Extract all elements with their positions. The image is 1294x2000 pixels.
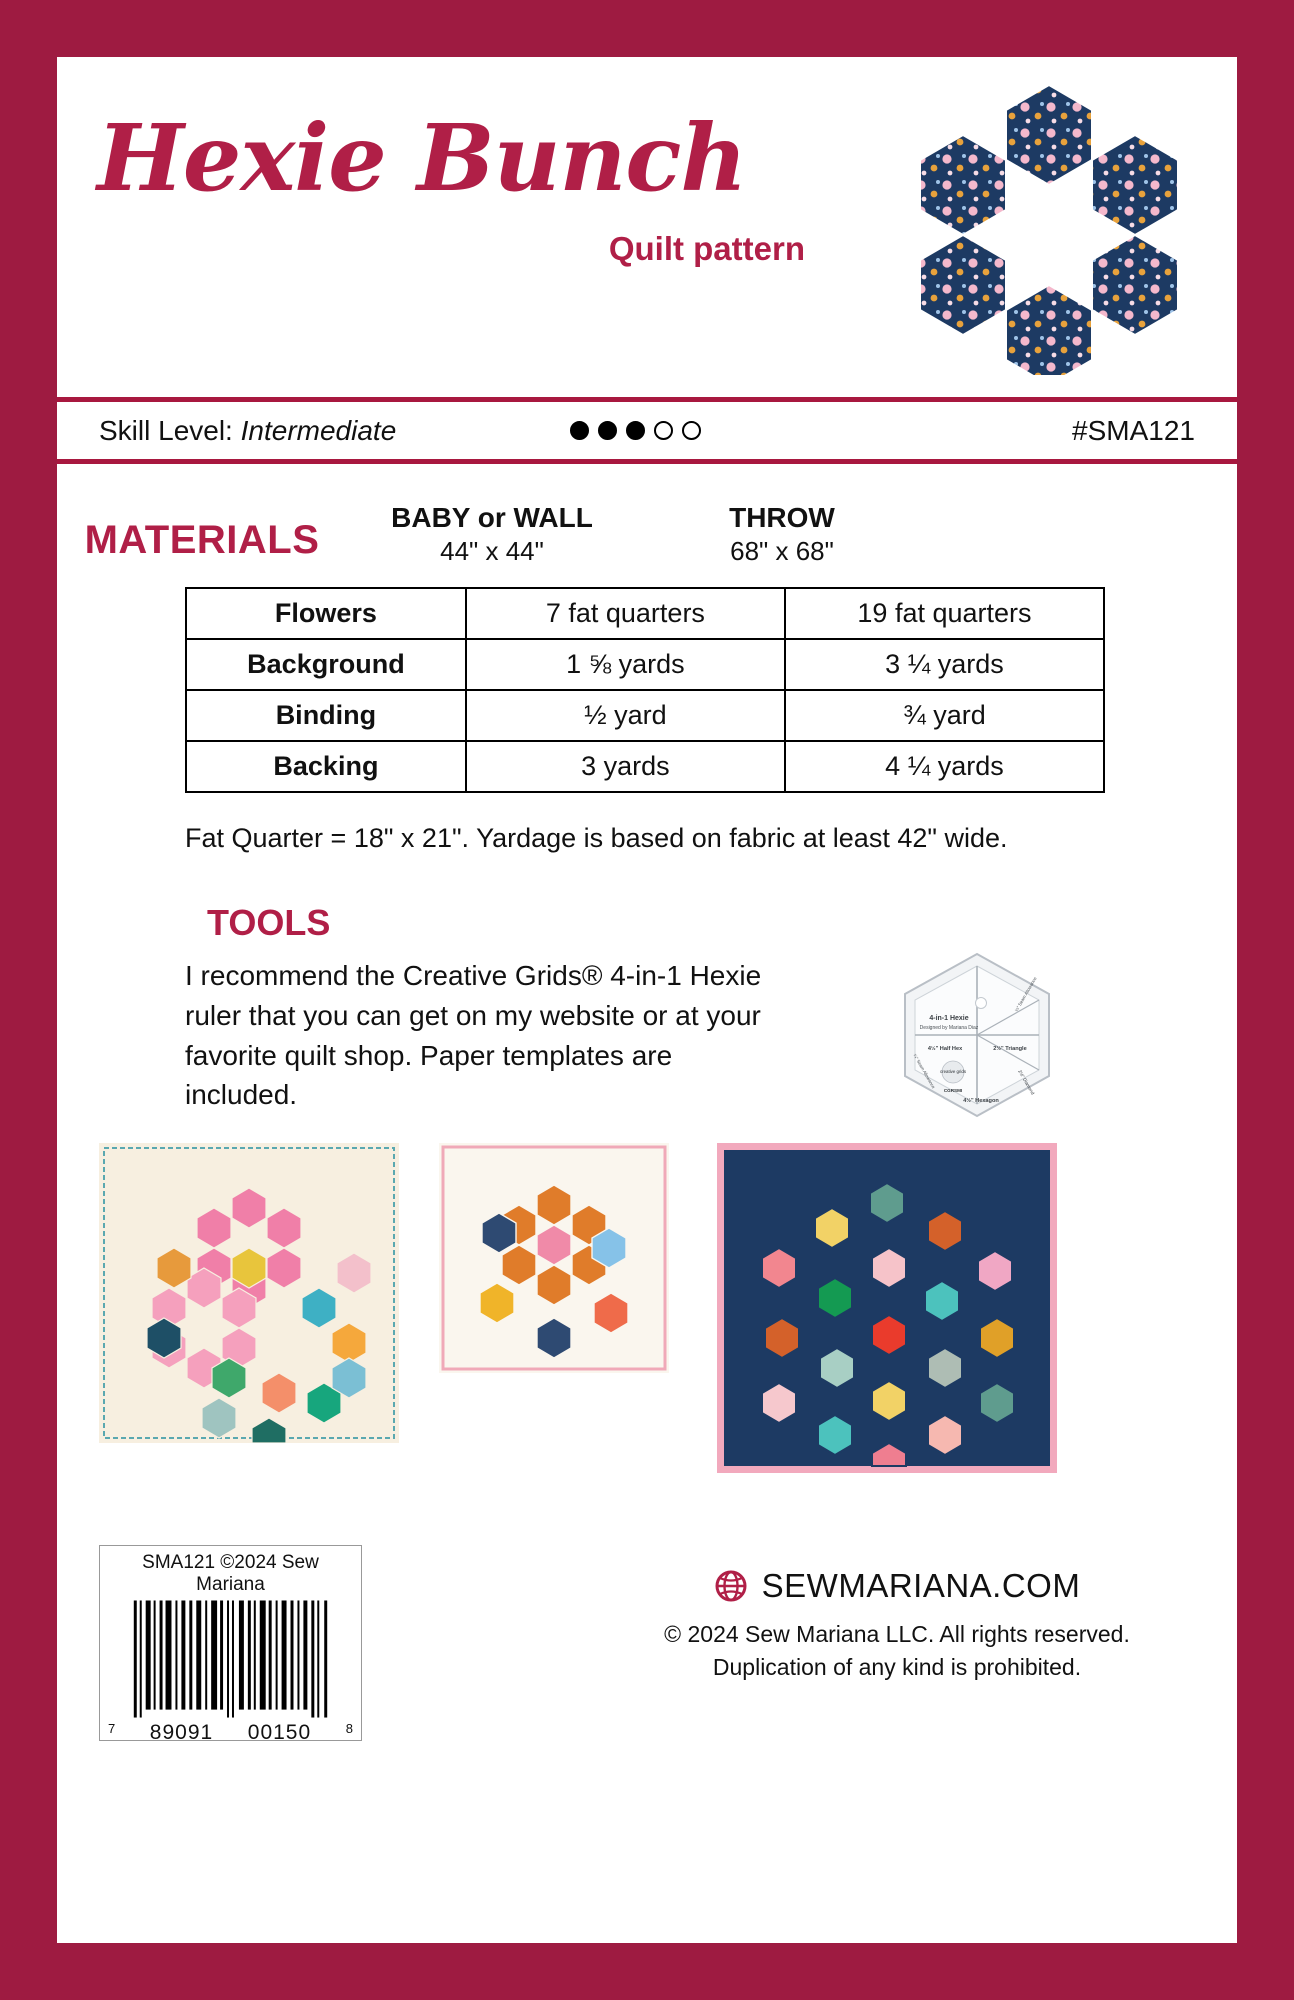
page-footer: SMA121 ©2024 Sew Mariana — [57, 1537, 1237, 1767]
copyright-line: © 2024 Sew Mariana LLC. All rights reser… — [617, 1621, 1177, 1648]
barcode-group-2: 00150 — [248, 1721, 311, 1745]
skill-level-label: Skill Level: — [99, 415, 233, 446]
row-label-flowers: Flowers — [186, 588, 466, 639]
barcode-left-digit: 7 — [108, 1721, 115, 1745]
materials-section-title: MATERIALS — [57, 518, 347, 567]
barcode-block: SMA121 ©2024 Sew Mariana — [99, 1545, 362, 1741]
sku-number: #SMA121 — [1072, 415, 1195, 447]
website-url[interactable]: SEWMARIANA.COM — [762, 1567, 1081, 1605]
column-name-throw: THROW — [637, 502, 927, 534]
tools-description: I recommend the Creative Grids® 4-in-1 H… — [185, 956, 785, 1115]
barcode-bars — [108, 1600, 353, 1720]
hexie-ruler-icon: 4-in-1 Hexie Designed by Mariana Diaz 4½… — [877, 950, 1077, 1120]
cell-background-throw: 3 ¼ yards — [785, 639, 1104, 690]
ruler-label-triangle: 2½" Triangle — [993, 1045, 1026, 1052]
barcode-digits: 7 89091 00150 8 — [108, 1721, 353, 1745]
ruler-name: 4-in-1 Hexie — [929, 1015, 968, 1022]
column-size-throw: 68" x 68" — [637, 536, 927, 567]
skill-level-value: Intermediate — [241, 415, 397, 446]
page-subtitle: Quilt pattern — [97, 230, 817, 268]
table-row: Background 1 ⅝ yards 3 ¼ yards — [186, 639, 1104, 690]
row-label-binding: Binding — [186, 690, 466, 741]
row-label-backing: Backing — [186, 741, 466, 792]
ruler-designer: Designed by Mariana Diaz — [920, 1025, 979, 1031]
skill-dot-1 — [570, 421, 589, 440]
footer-contact-block: SEWMARIANA.COM © 2024 Sew Mariana LLC. A… — [617, 1567, 1177, 1681]
tools-body: I recommend the Creative Grids® 4-in-1 H… — [57, 956, 1237, 1115]
cell-flowers-throw: 19 fat quarters — [785, 588, 1104, 639]
ruler-label-hexagon: 4½" Hexagon — [963, 1097, 999, 1104]
column-header-throw: THROW 68" x 68" — [637, 502, 927, 567]
ruler-label-half-hex: 4½" Half Hex — [928, 1045, 963, 1052]
barcode-caption: SMA121 ©2024 Sew Mariana — [108, 1552, 353, 1596]
quilt-photo-cream — [99, 1143, 399, 1443]
cell-binding-baby: ½ yard — [466, 690, 785, 741]
ruler-brand: creative grids — [940, 1069, 967, 1074]
quilt-photo-navy — [717, 1143, 1057, 1473]
skill-dot-4 — [654, 421, 673, 440]
materials-header-row: MATERIALS BABY or WALL 44" x 44" THROW 6… — [57, 464, 1237, 579]
barcode-group-1: 89091 — [150, 1721, 213, 1745]
skill-level-dots — [570, 421, 701, 440]
table-row: Flowers 7 fat quarters 19 fat quarters — [186, 588, 1104, 639]
table-row: Binding ½ yard ¾ yard — [186, 690, 1104, 741]
skill-level-bar: Skill Level: Intermediate #SMA121 — [57, 402, 1237, 464]
column-header-baby: BABY or WALL 44" x 44" — [347, 502, 637, 567]
website-row[interactable]: SEWMARIANA.COM — [617, 1567, 1177, 1605]
column-size-baby: 44" x 44" — [347, 536, 637, 567]
cell-flowers-baby: 7 fat quarters — [466, 588, 785, 639]
cell-binding-throw: ¾ yard — [785, 690, 1104, 741]
tools-section-title: TOOLS — [207, 902, 1237, 944]
pattern-page: Hexie Bunch Quilt pattern — [57, 57, 1237, 1943]
skill-level-text: Skill Level: Intermediate — [99, 415, 396, 447]
table-row: Backing 3 yards 4 ¼ yards — [186, 741, 1104, 792]
cell-backing-throw: 4 ¼ yards — [785, 741, 1104, 792]
page-title: Hexie Bunch — [97, 112, 817, 204]
skill-dot-3 — [626, 421, 645, 440]
page-header: Hexie Bunch Quilt pattern — [57, 57, 1237, 402]
fat-quarter-note: Fat Quarter = 18" x 21". Yardage is base… — [185, 823, 1237, 854]
cell-backing-baby: 3 yards — [466, 741, 785, 792]
column-name-baby: BABY or WALL — [347, 502, 637, 534]
hero-hexie-flower-graphic — [889, 75, 1209, 375]
barcode-right-digit: 8 — [346, 1721, 353, 1745]
globe-icon — [714, 1569, 748, 1603]
skill-dot-2 — [598, 421, 617, 440]
skill-dot-5 — [682, 421, 701, 440]
duplication-notice: Duplication of any kind is prohibited. — [617, 1654, 1177, 1681]
quilt-photo-gallery — [57, 1143, 1237, 1503]
row-label-background: Background — [186, 639, 466, 690]
quilt-photo-baby — [439, 1143, 669, 1373]
ruler-code: CGRSMI — [944, 1088, 962, 1093]
materials-table: Flowers 7 fat quarters 19 fat quarters B… — [185, 587, 1105, 793]
title-block: Hexie Bunch Quilt pattern — [97, 112, 817, 268]
cell-background-baby: 1 ⅝ yards — [466, 639, 785, 690]
